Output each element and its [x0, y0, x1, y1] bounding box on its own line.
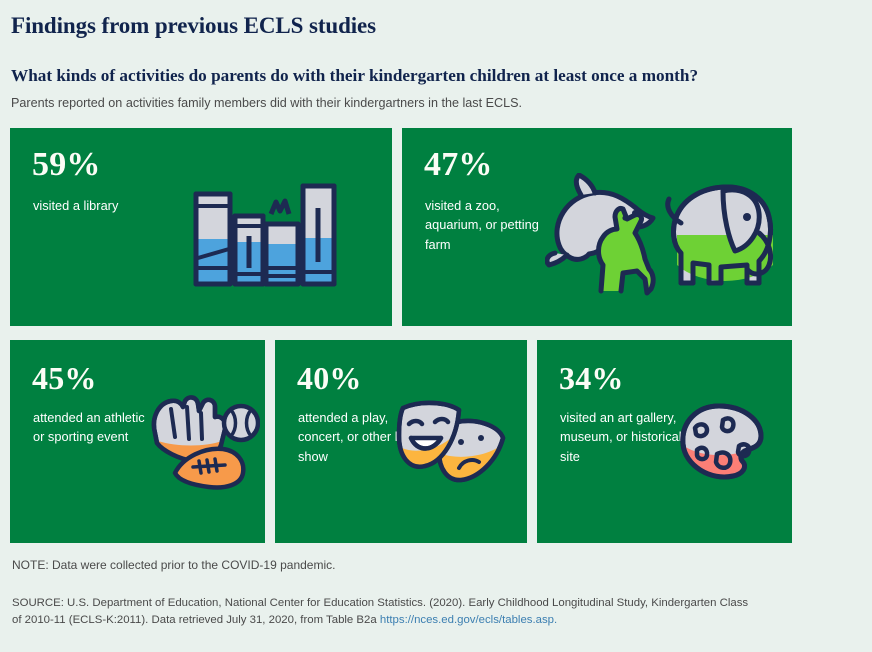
stat-label: attended an athletic or sporting event: [33, 408, 158, 448]
stat-card-grid: 59% visited a library: [10, 128, 862, 543]
infographic-page: Findings from previous ECLS studies What…: [0, 0, 872, 652]
stat-card-theater: 40% attended a play, concert, or other l…: [275, 340, 527, 543]
stat-card-row-2: 45% attended an athletic or sporting eve…: [10, 340, 862, 543]
stat-card-art: 34% visited an art gallery, museum, or h…: [537, 340, 792, 543]
theater-masks-icon: [395, 398, 510, 488]
stat-label: visited a library: [33, 196, 118, 216]
art-palette-icon: [677, 402, 767, 482]
footnote-source: SOURCE: U.S. Department of Education, Na…: [12, 595, 752, 630]
stat-label: visited a zoo, aquarium, or petting farm: [425, 196, 555, 255]
stat-label: visited an art gallery, museum, or histo…: [560, 408, 685, 467]
stat-percent: 45%: [32, 362, 97, 394]
chart-question-heading: What kinds of activities do parents do w…: [11, 66, 862, 87]
stat-card-sports: 45% attended an athletic or sporting eve…: [10, 340, 265, 543]
sports-icon: [145, 395, 260, 490]
stat-card-library: 59% visited a library: [10, 128, 392, 326]
stat-percent: 34%: [559, 362, 624, 394]
page-title: Findings from previous ECLS studies: [11, 0, 862, 40]
stat-card-zoo: 47% visited a zoo, aquarium, or petting …: [402, 128, 792, 326]
books-icon: [190, 180, 340, 290]
stat-card-row-1: 59% visited a library: [10, 128, 862, 326]
zoo-animals-icon: [545, 173, 780, 298]
chart-description: Parents reported on activities family me…: [11, 95, 862, 111]
footnote-note: NOTE: Data were collected prior to the C…: [12, 557, 862, 573]
source-link[interactable]: https://nces.ed.gov/ecls/tables.asp.: [380, 614, 557, 626]
stat-percent: 47%: [424, 148, 493, 182]
stat-percent: 40%: [297, 362, 362, 394]
stat-percent: 59%: [32, 148, 101, 182]
